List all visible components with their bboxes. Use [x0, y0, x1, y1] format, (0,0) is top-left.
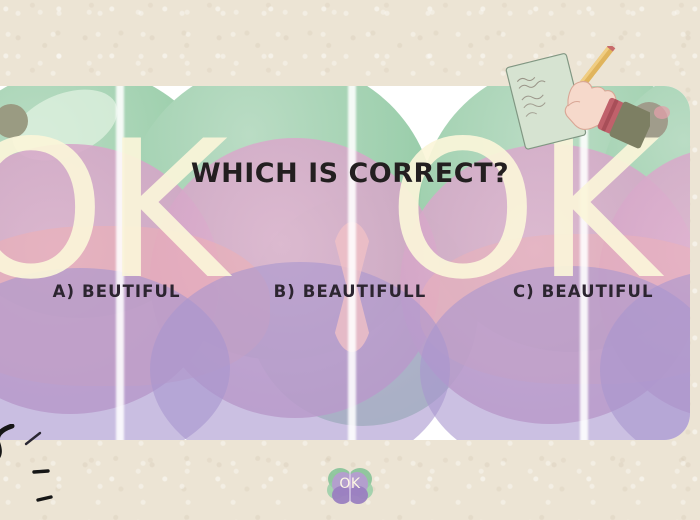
- answer-option-a[interactable]: A) BEUTIFUL: [0, 276, 233, 308]
- brand-name: OK: [327, 476, 373, 492]
- brand-logo: OK: [0, 466, 700, 508]
- answer-option-c[interactable]: C) BEAUTIFUL: [467, 276, 700, 308]
- question-title: WHICH IS CORRECT?: [0, 158, 700, 189]
- answer-option-b[interactable]: B) BEAUTIFULL: [233, 276, 466, 308]
- column-separator-2: [348, 86, 356, 440]
- slide-stage: OK OK WHICH IS CORRECT? A) BEUTIFUL B) B…: [0, 0, 700, 520]
- brain-icon: OK: [327, 466, 373, 508]
- hand-writing-notepad-icon: [498, 46, 650, 152]
- answer-options: A) BEUTIFUL B) BEAUTIFULL C) BEAUTIFUL: [0, 276, 700, 308]
